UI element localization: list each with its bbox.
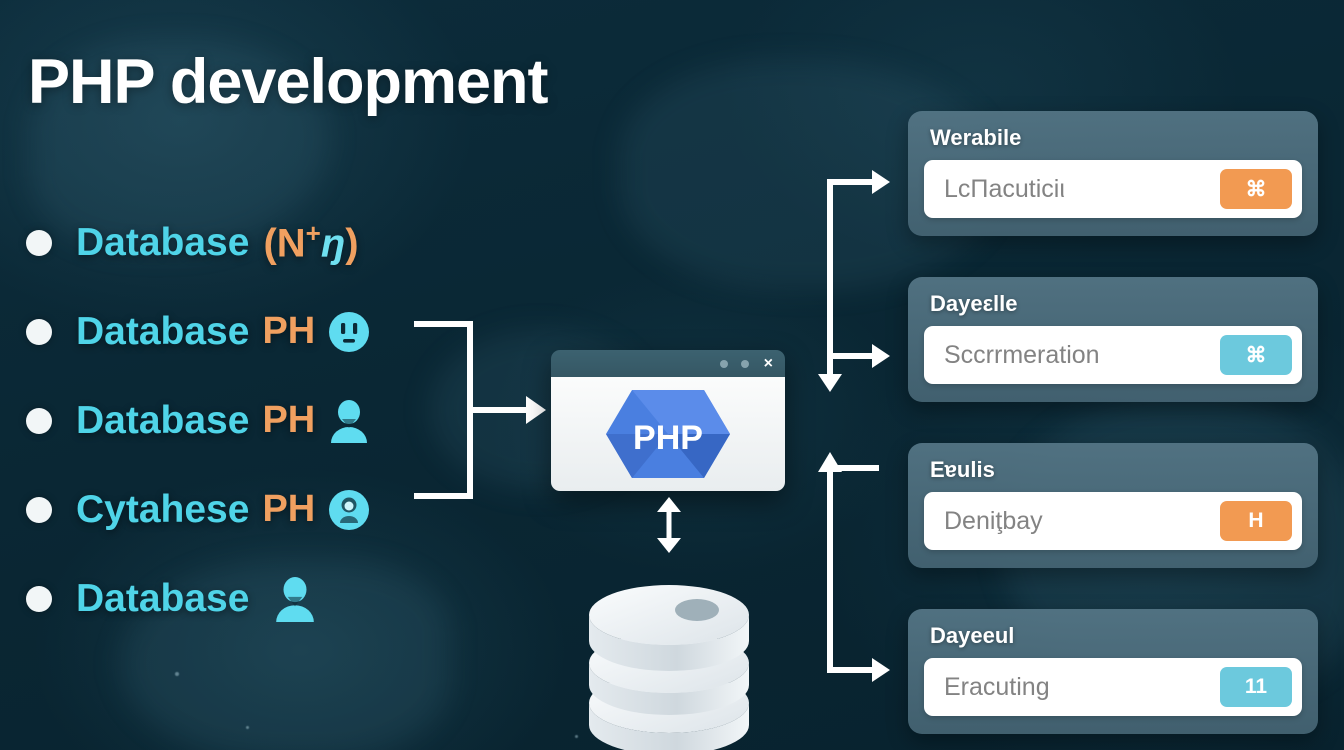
card-title: Werabile (930, 125, 1302, 151)
paren-glyph-cyan: ŋ (321, 222, 345, 266)
browser-window[interactable]: × PHP (551, 350, 785, 491)
paren-close: ) (345, 222, 358, 266)
diagram-canvas: PHP development Database (N+ŋ) Database … (0, 0, 1344, 750)
card-dayeelle[interactable]: Dayeεlle Sccrrmeration ⌘ (908, 277, 1318, 402)
arrowhead-up (818, 452, 842, 472)
bullet-label: Cytahese (76, 488, 249, 532)
bullet-dot-icon (26, 408, 52, 434)
database-cylinder-icon (584, 553, 754, 750)
bullet-dot-icon (26, 319, 52, 345)
face-circle-icon (328, 311, 370, 353)
field-value: Deniţbay (944, 507, 1220, 536)
card-field[interactable]: Sccrrmeration ⌘ (924, 326, 1302, 384)
card-title: Dayeeul (930, 623, 1302, 649)
arrowhead-card-2 (872, 344, 890, 368)
card-werabile[interactable]: Werabile LcΠacuticiι ⌘ (908, 111, 1318, 236)
bullet-dot-icon (26, 586, 52, 612)
field-value: Sccrrmeration (944, 341, 1220, 370)
list-item[interactable]: Database PH (26, 376, 370, 465)
card-eaulis[interactable]: Eɐulis Deniţbay H (908, 443, 1318, 568)
bullet-label: Database (76, 399, 249, 443)
map-speck (575, 735, 578, 738)
card-title: Eɐulis (930, 457, 1302, 483)
svg-text:PHP: PHP (633, 419, 703, 457)
list-item[interactable]: Cytahese PH (26, 465, 370, 554)
status-badge[interactable]: ⌘ (1220, 169, 1292, 209)
user-silhouette-icon (273, 576, 317, 622)
paren-glyph-orange: N (277, 222, 306, 266)
bullet-label: Database (76, 221, 249, 265)
arrowhead-down (818, 374, 842, 392)
status-badge[interactable]: 11 (1220, 667, 1292, 707)
flow-arrows-right (790, 100, 920, 720)
bullet-accent: PH (262, 399, 315, 442)
field-value: LcΠacuticiι (944, 175, 1220, 204)
list-item[interactable]: Database (N+ŋ) (26, 198, 370, 287)
window-titlebar: × (551, 350, 785, 377)
bullet-paren-group: (N+ŋ) (263, 218, 358, 266)
window-minimize-dot-icon[interactable] (720, 360, 728, 368)
bullet-accent: PH (262, 310, 315, 353)
status-badge[interactable]: ⌘ (1220, 335, 1292, 375)
card-field[interactable]: Eracuting 11 (924, 658, 1302, 716)
bullet-dot-icon (26, 230, 52, 256)
window-content: PHP (551, 377, 785, 491)
page-title: PHP development (28, 46, 548, 118)
card-field[interactable]: Deniţbay H (924, 492, 1302, 550)
card-field[interactable]: LcΠacuticiι ⌘ (924, 160, 1302, 218)
card-title: Dayeεlle (930, 291, 1302, 317)
arrowhead-card-4 (872, 658, 890, 682)
bullet-accent: PH (262, 488, 315, 531)
paren-open: ( (263, 222, 276, 266)
window-maximize-dot-icon[interactable] (741, 360, 749, 368)
avatar-circle-icon (328, 489, 370, 531)
paren-plus: + (306, 218, 321, 248)
left-bracket-connector (414, 310, 554, 510)
bidirectional-arrow-icon (652, 497, 686, 553)
bullet-list: Database (N+ŋ) Database PH Database PH (26, 198, 370, 643)
php-logo-icon: PHP (602, 386, 734, 482)
map-speck (175, 672, 179, 676)
status-badge[interactable]: H (1220, 501, 1292, 541)
card-dayeeul[interactable]: Dayeeul Eracuting 11 (908, 609, 1318, 734)
bullet-label: Database (76, 577, 249, 621)
close-icon[interactable]: × (764, 356, 773, 372)
bullet-dot-icon (26, 497, 52, 523)
list-item[interactable]: Database (26, 554, 370, 643)
list-item[interactable]: Database PH (26, 287, 370, 376)
field-value: Eracuting (944, 673, 1220, 702)
arrowhead-card-1 (872, 170, 890, 194)
user-silhouette-icon (328, 399, 370, 443)
bullet-label: Database (76, 310, 249, 354)
map-speck (246, 726, 249, 729)
